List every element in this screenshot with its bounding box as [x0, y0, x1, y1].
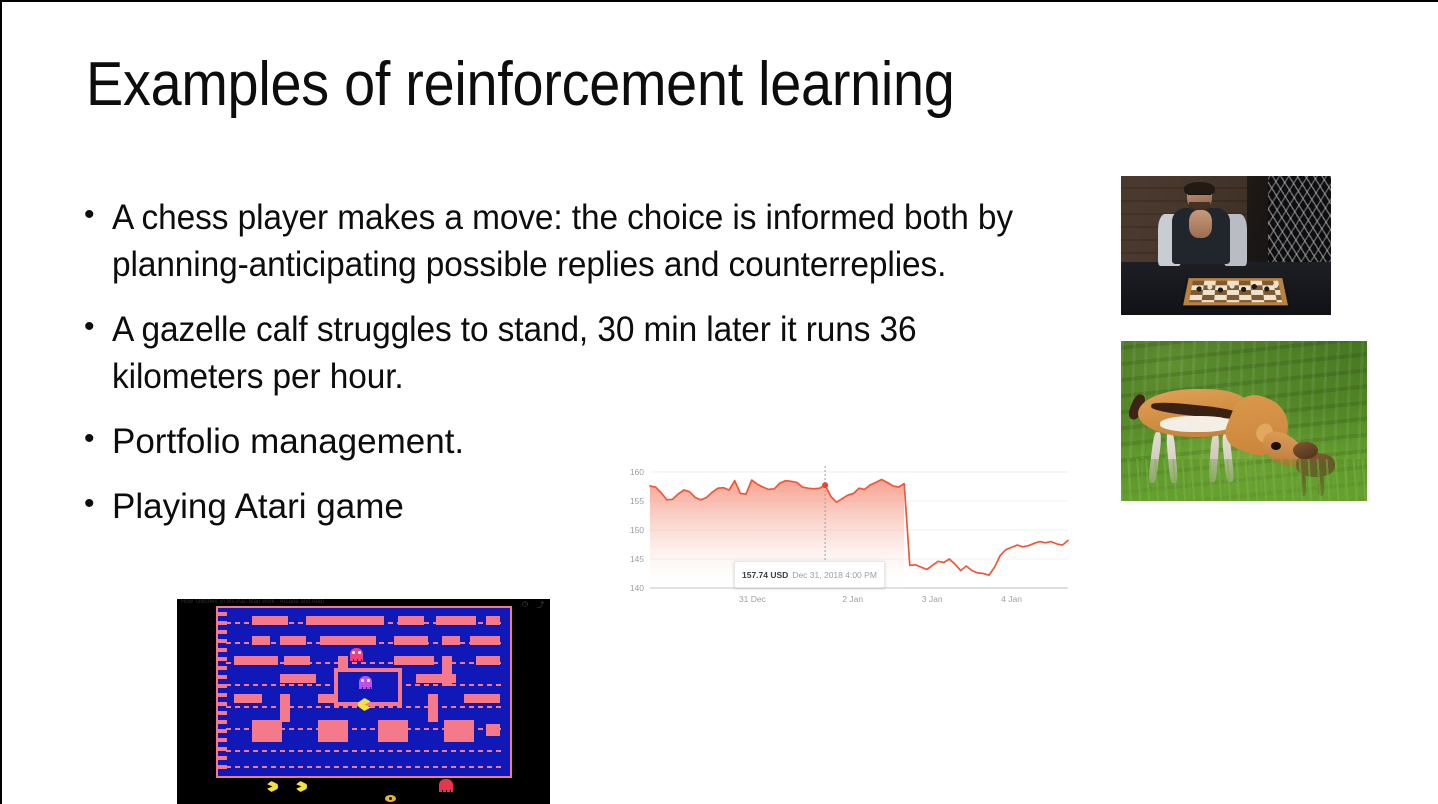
- svg-text:3 Jan: 3 Jan: [922, 594, 943, 604]
- bullet-glyph-icon: •: [84, 418, 112, 454]
- stock-chart-svg: 140145150155160 31 Dec2 Jan3 Jan4 Jan: [616, 460, 1072, 612]
- atari-pacman-screenshot: How 'Glitches' in Ms Pac-Man work - Arca…: [177, 599, 550, 804]
- pacman-life-1: [267, 781, 278, 792]
- share-icon[interactable]: ⤴: [537, 600, 544, 610]
- atari-video-title: How 'Glitches' in Ms Pac-Man work - Arca…: [181, 599, 324, 605]
- pacman-life-2: [296, 781, 307, 792]
- svg-text:150: 150: [630, 525, 644, 535]
- portfolio-stock-chart: 140145150155160 31 Dec2 Jan3 Jan4 Jan 15…: [616, 460, 1072, 612]
- gazelle-photo-grass: [1121, 459, 1367, 501]
- list-item-label: Portfolio management.: [112, 418, 1094, 465]
- svg-text:140: 140: [630, 583, 644, 593]
- svg-text:160: 160: [630, 467, 644, 477]
- pacman-bonus-ghost: [439, 779, 454, 792]
- gazelle-calf-photo: [1121, 341, 1367, 501]
- chess-player-photo: [1121, 176, 1331, 315]
- list-item-label: A chess player makes a move: the choice …: [112, 194, 1050, 288]
- list-item: • Portfolio management.: [84, 418, 1094, 465]
- bullet-glyph-icon: •: [84, 306, 112, 342]
- svg-text:145: 145: [630, 554, 644, 564]
- chess-photo-curtain: [1268, 176, 1331, 276]
- chess-photo-pieces: [1192, 273, 1280, 292]
- chart-y-axis-labels: 140145150155160: [630, 467, 644, 593]
- pacman-ghost-purple: [359, 676, 372, 687]
- bullet-glyph-icon: •: [84, 194, 112, 230]
- list-item-label: A gazelle calf struggles to stand, 30 mi…: [112, 306, 1050, 400]
- list-item: • A chess player makes a move: the choic…: [84, 194, 1094, 288]
- pacman-maze-interior: [218, 608, 510, 776]
- chart-marker-dot: [822, 482, 828, 488]
- bullet-glyph-icon: •: [84, 483, 112, 519]
- chart-tooltip-timestamp: Dec 31, 2018 4:00 PM: [792, 570, 877, 580]
- pacman-ghost-red: [350, 648, 363, 659]
- pacman-fruit: [385, 795, 396, 802]
- page-title: Examples of reinforcement learning: [86, 52, 1076, 117]
- list-item: • A gazelle calf struggles to stand, 30 …: [84, 306, 1094, 400]
- chart-tooltip: 157.74 USDDec 31, 2018 4:00 PM: [734, 561, 885, 588]
- pacman-maze: [216, 606, 512, 778]
- chart-x-axis-labels: 31 Dec2 Jan3 Jan4 Jan: [739, 594, 1022, 604]
- svg-text:31 Dec: 31 Dec: [739, 594, 767, 604]
- svg-text:4 Jan: 4 Jan: [1001, 594, 1022, 604]
- presentation-slide: Examples of reinforcement learning • A c…: [0, 0, 1438, 804]
- chart-tooltip-price: 157.74 USD: [742, 570, 788, 580]
- clock-icon[interactable]: ◷: [522, 600, 528, 608]
- chess-photo-player: [1153, 182, 1250, 282]
- svg-text:2 Jan: 2 Jan: [842, 594, 863, 604]
- svg-text:155: 155: [630, 496, 644, 506]
